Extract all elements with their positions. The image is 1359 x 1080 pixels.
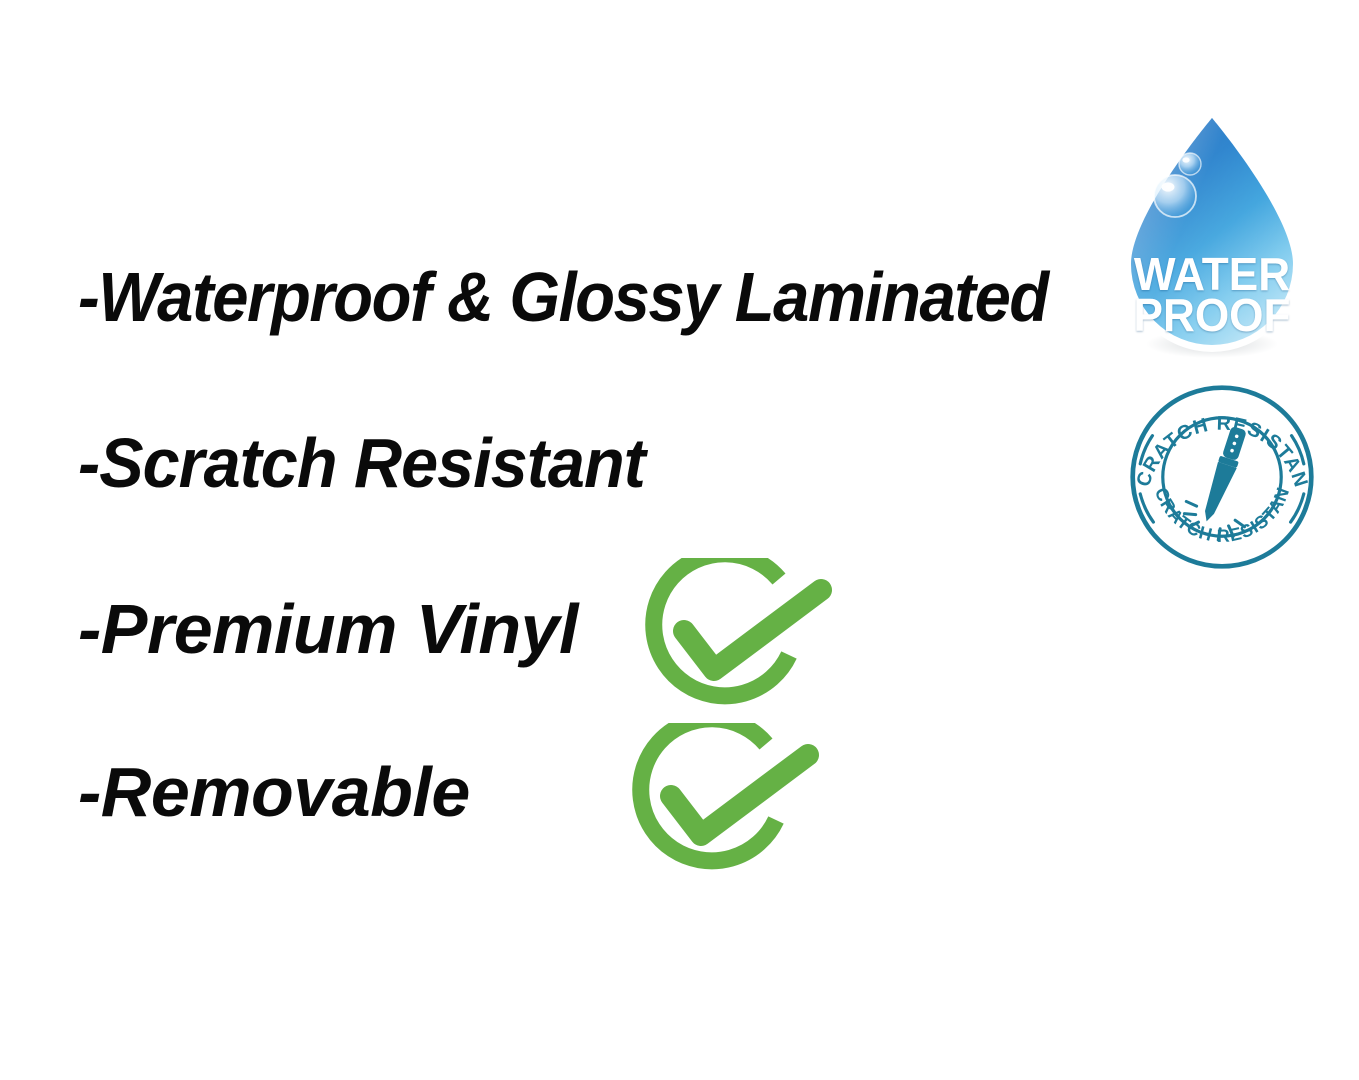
scratch-resistant-badge: SCRATCH RESISTANT SCRATCH RESISTANT	[1128, 383, 1316, 571]
feature-item-waterproof: -Waterproof & Glossy Laminated	[78, 262, 1048, 332]
feature-item-premium-vinyl: -Premium Vinyl	[78, 594, 578, 664]
infographic-canvas: -Waterproof & Glossy Laminated -Scratch …	[0, 0, 1359, 1080]
knife-stamp-icon: SCRATCH RESISTANT SCRATCH RESISTANT	[1128, 383, 1316, 571]
check-circle-icon	[643, 558, 843, 706]
feature-item-removable: -Removable	[78, 757, 470, 827]
feature-list: -Waterproof & Glossy Laminated -Scratch …	[0, 0, 1100, 1080]
water-drop-icon	[1104, 104, 1320, 362]
check-badge-removable	[630, 723, 830, 871]
waterproof-badge: WATER PROOF	[1104, 104, 1320, 362]
check-circle-icon	[630, 723, 830, 871]
check-badge-premium-vinyl	[643, 558, 843, 706]
feature-item-scratch-resistant: -Scratch Resistant	[78, 428, 645, 498]
knife-icon	[1199, 425, 1248, 525]
